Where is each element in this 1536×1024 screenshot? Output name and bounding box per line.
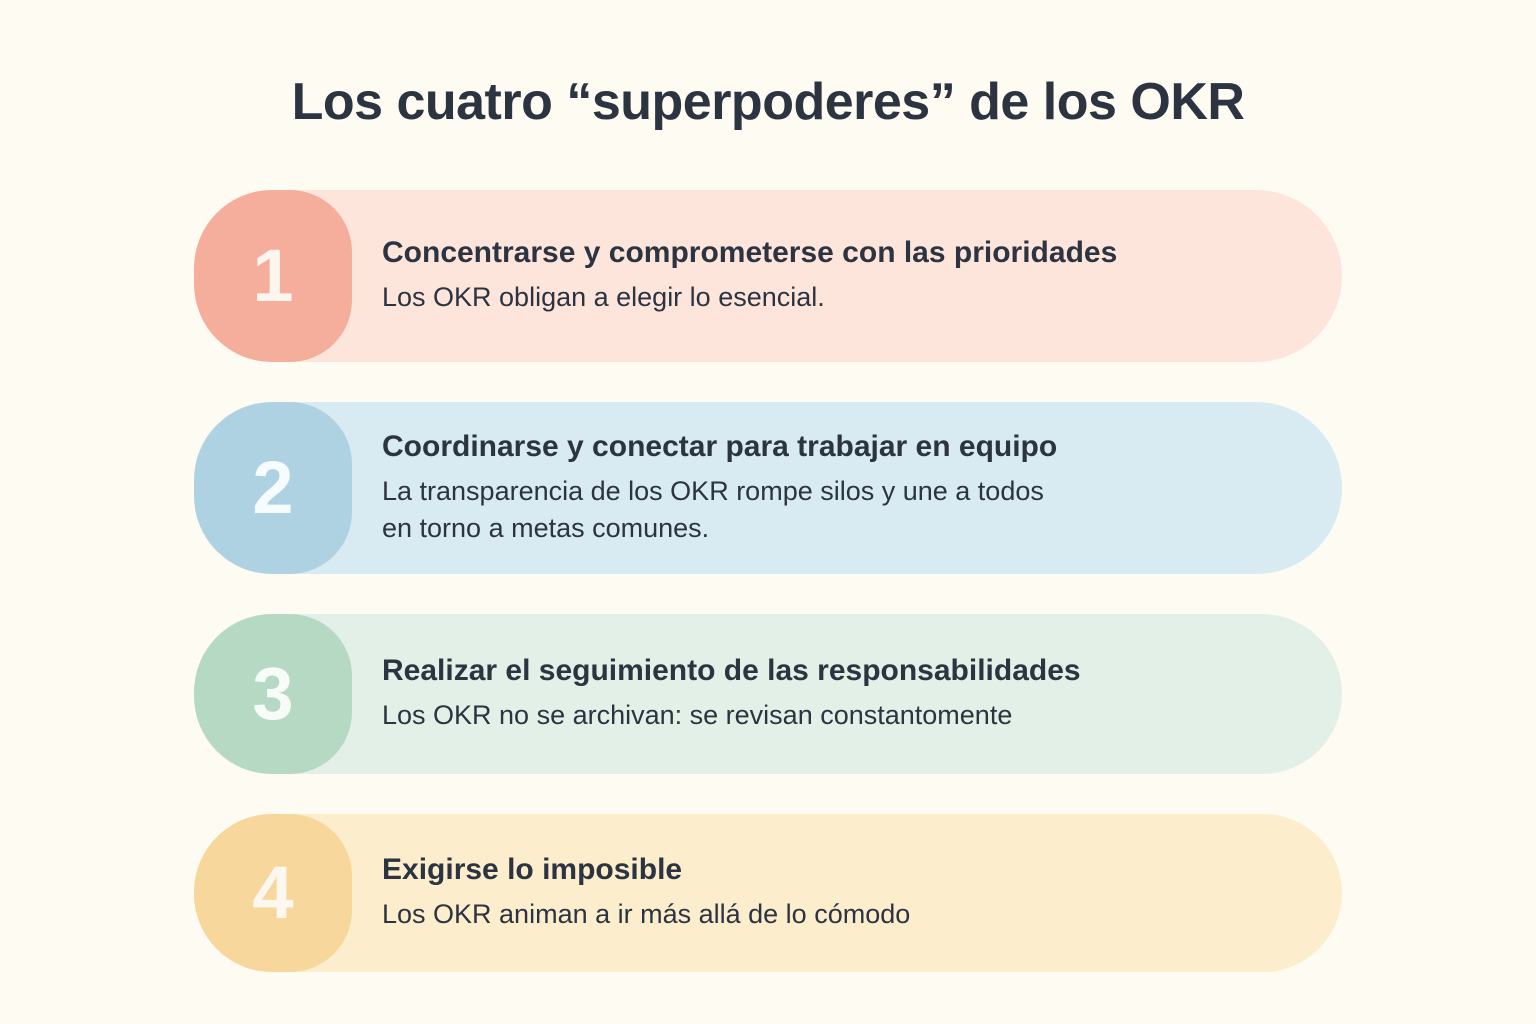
card-body: Coordinarse y conectar para trabajar en … [352,402,1342,574]
card-description: Los OKR animan a ir más allá de lo cómod… [382,896,1272,933]
number-badge: 4 [194,814,352,972]
superpowers-list: 1 Concentrarse y comprometerse con las p… [194,190,1342,1012]
card-description: Los OKR obligan a elegir lo esencial. [382,279,1272,316]
description-line: Los OKR obligan a elegir lo esencial. [382,279,1272,316]
description-line: Los OKR no se archivan: se revisan const… [382,697,1272,734]
number-badge: 3 [194,614,352,774]
card-heading: Concentrarse y comprometerse con las pri… [382,235,1272,271]
description-line: Los OKR animan a ir más allá de lo cómod… [382,896,1272,933]
card-description: La transparencia de los OKR rompe silos … [382,473,1272,548]
card-body: Exigirse lo imposible Los OKR animan a i… [352,814,1342,972]
list-item[interactable]: 2 Coordinarse y conectar para trabajar e… [194,402,1342,574]
card-body: Realizar el seguimiento de las responsab… [352,614,1342,774]
card-heading: Coordinarse y conectar para trabajar en … [382,429,1272,465]
badge-number: 3 [252,657,293,731]
page-title: Los cuatro “superpoderes” de los OKR [0,72,1536,132]
card-body: Concentrarse y comprometerse con las pri… [352,190,1342,362]
badge-number: 2 [252,451,293,525]
badge-number: 4 [252,856,293,930]
card-description: Los OKR no se archivan: se revisan const… [382,697,1272,734]
number-badge: 2 [194,402,352,574]
card-heading: Exigirse lo imposible [382,852,1272,888]
list-item[interactable]: 3 Realizar el seguimiento de las respons… [194,614,1342,774]
badge-number: 1 [252,239,293,313]
description-line: La transparencia de los OKR rompe silos … [382,473,1272,510]
infographic-page: Los cuatro “superpoderes” de los OKR 1 C… [0,0,1536,1024]
description-line: en torno a metas comunes. [382,510,1272,547]
list-item[interactable]: 1 Concentrarse y comprometerse con las p… [194,190,1342,362]
list-item[interactable]: 4 Exigirse lo imposible Los OKR animan a… [194,814,1342,972]
number-badge: 1 [194,190,352,362]
card-heading: Realizar el seguimiento de las responsab… [382,653,1272,689]
